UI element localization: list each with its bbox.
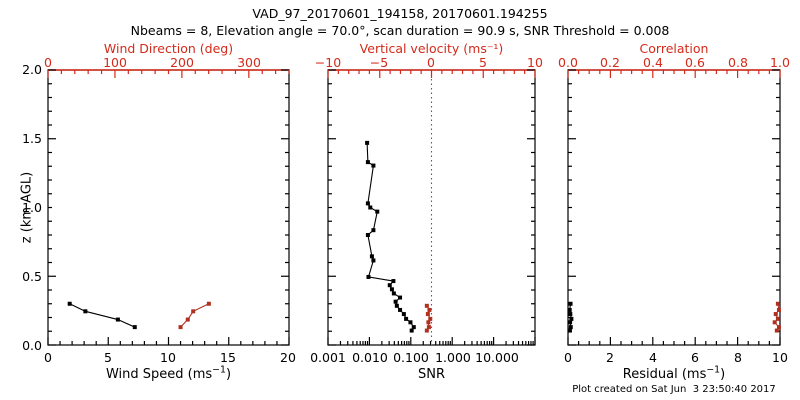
correlation-point xyxy=(777,308,781,312)
plot-figure: VAD_97_20170601_194158, 20170601.194255 … xyxy=(0,0,800,400)
snr-point xyxy=(404,317,408,321)
snr-point xyxy=(395,304,399,308)
snr-point xyxy=(398,296,402,300)
snr-point xyxy=(370,254,374,258)
snr-point xyxy=(388,283,392,287)
snr-point xyxy=(365,141,369,145)
correlation-point xyxy=(777,325,781,329)
correlation-point xyxy=(776,317,780,321)
wind-direction-point xyxy=(207,302,211,306)
snr-line xyxy=(367,143,414,331)
snr-point xyxy=(366,201,370,205)
snr-point xyxy=(368,206,372,210)
snr-point xyxy=(390,287,394,291)
residual-point xyxy=(568,320,572,324)
wind-speed-line xyxy=(70,304,135,327)
snr-point xyxy=(408,320,412,324)
snr-point xyxy=(371,164,375,168)
wind-speed-point xyxy=(133,325,137,329)
wind-direction-line xyxy=(181,304,209,327)
snr-point xyxy=(412,325,416,329)
vertical-velocity-point xyxy=(427,325,431,329)
correlation-point xyxy=(774,312,778,316)
vertical-velocity-point xyxy=(425,329,429,333)
plot-canvas xyxy=(0,0,800,400)
residual-point xyxy=(568,312,572,316)
snr-point xyxy=(366,275,370,279)
snr-point xyxy=(366,160,370,164)
residual-point xyxy=(569,317,573,321)
residual-point xyxy=(569,325,573,329)
wind-direction-point xyxy=(191,309,195,313)
residual-point xyxy=(569,302,573,306)
correlation-point xyxy=(773,320,777,324)
snr-point xyxy=(410,329,414,333)
wind-direction-point xyxy=(179,325,183,329)
snr-point xyxy=(392,291,396,295)
residual-point xyxy=(568,329,572,333)
snr-point xyxy=(366,233,370,237)
wind-direction-point xyxy=(186,318,190,322)
wind-speed-point xyxy=(83,309,87,313)
snr-point xyxy=(371,258,375,262)
wind-speed-point xyxy=(68,302,72,306)
vertical-velocity-point xyxy=(426,312,430,316)
snr-point xyxy=(398,308,402,312)
correlation-point xyxy=(775,329,779,333)
snr-point xyxy=(394,300,398,304)
vertical-velocity-point xyxy=(428,317,432,321)
snr-point xyxy=(371,228,375,232)
panel-frame xyxy=(568,70,780,345)
vertical-velocity-point xyxy=(427,308,431,312)
residual-point xyxy=(568,308,572,312)
panel-frame xyxy=(48,70,289,345)
correlation-point xyxy=(776,302,780,306)
vertical-velocity-point xyxy=(426,320,430,324)
vertical-velocity-point xyxy=(425,304,429,308)
wind-speed-point xyxy=(116,318,120,322)
snr-point xyxy=(391,279,395,283)
snr-point xyxy=(402,312,406,316)
snr-point xyxy=(375,210,379,214)
